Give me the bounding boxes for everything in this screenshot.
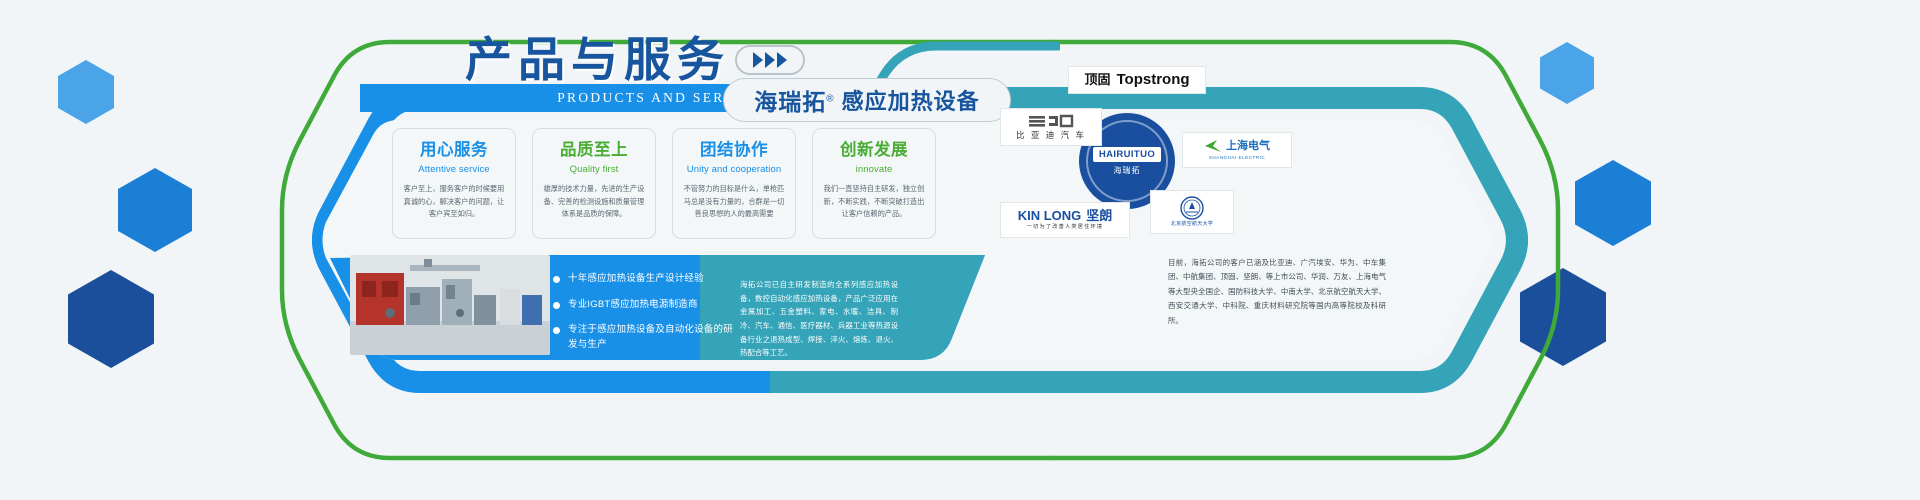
bullet-item: 专注于感应加热设备及自动化设备的研发与生产	[553, 323, 733, 352]
card-title-cn: 团结协作	[682, 141, 786, 159]
card-body: 我们一直坚持自主研发，独立创新，不断实践，不断突破打造出让客户信赖的产品。	[822, 183, 926, 220]
logo-buaa-cn: 北京航空航天大学	[1171, 222, 1213, 228]
card-body: 雄厚的技术力量，先进的生产设备、完善的检测设施和质量管理体系是品质的保障。	[542, 183, 646, 220]
buaa-crest-icon	[1180, 196, 1204, 220]
bullet-dot-icon	[553, 276, 560, 283]
card-body: 客户至上，服务客户的时候要用真诚的心，解决客户的问题，让客户宾至如归。	[402, 183, 506, 220]
bullet-item: 专业IGBT感应加热电源制造商	[553, 298, 733, 313]
value-card-2[interactable]: 品质至上 Quality first 雄厚的技术力量，先进的生产设备、完善的检测…	[532, 128, 656, 239]
logo-buaa[interactable]: 北京航空航天大学	[1150, 190, 1234, 234]
logo-topstrong[interactable]: 顶固 Topstrong	[1068, 66, 1206, 94]
card-body: 不管努力的目标是什么，单枪匹马总是没有力量的，合群是一切善良思想的人的最高需要	[682, 183, 786, 220]
card-title-en: Attentive service	[402, 164, 506, 175]
logo-topstrong-cn: 顶固	[1084, 73, 1110, 87]
card-title-cn: 品质至上	[542, 141, 646, 159]
bullet-text: 专业IGBT感应加热电源制造商	[568, 298, 698, 313]
logo-kinlong-cn: 坚朗	[1086, 209, 1112, 223]
logo-shanghai-electric-en: SHANGHAI ELECTRIC	[1209, 155, 1266, 160]
value-card-3[interactable]: 团结协作 Unity and cooperation 不管努力的目标是什么，单枪…	[672, 128, 796, 239]
byd-mark-icon	[1028, 114, 1074, 128]
value-card-4[interactable]: 创新发展 innovate 我们一直坚持自主研发，独立创新，不断实践，不断突破打…	[812, 128, 936, 239]
value-card-1[interactable]: 用心服务 Attentive service 客户至上，服务客户的时候要用真诚的…	[392, 128, 516, 239]
bullet-dot-icon	[553, 302, 560, 309]
logo-byd[interactable]: 比 亚 迪 汽 车	[1000, 108, 1102, 146]
production-equipment-photo	[350, 255, 550, 355]
hairuituo-logo-en: HAIRUITUO	[1093, 147, 1161, 162]
value-cards: 用心服务 Attentive service 客户至上，服务客户的时候要用真诚的…	[392, 128, 936, 239]
page-title: 产品与服务	[465, 36, 730, 83]
logo-kinlong-en: KIN LONG	[1018, 209, 1082, 223]
feature-bullets: 十年感应加热设备生产设计经验 专业IGBT感应加热电源制造商 专注于感应加热设备…	[553, 272, 733, 364]
card-title-cn: 用心服务	[402, 141, 506, 159]
bullet-text: 十年感应加热设备生产设计经验	[568, 272, 704, 287]
logo-shanghai-electric[interactable]: 上海电气 SHANGHAI ELECTRIC	[1182, 132, 1292, 168]
brand-name-cn: 海瑞拓®	[754, 83, 834, 117]
logo-kinlong[interactable]: KIN LONG 坚朗 一切为了改善人类居住环境	[1000, 202, 1130, 238]
registered-mark-icon: ®	[826, 93, 834, 104]
shanghai-electric-mark-icon	[1204, 139, 1222, 153]
logo-byd-cn: 比 亚 迪 汽 车	[1016, 131, 1086, 140]
card-title-cn: 创新发展	[822, 141, 926, 159]
card-title-en: Unity and cooperation	[682, 164, 786, 175]
brand-product-cn: 感应加热设备	[842, 84, 980, 116]
triple-chevron-right-icon	[735, 45, 805, 75]
bullet-text: 专注于感应加热设备及自动化设备的研发与生产	[568, 323, 733, 352]
logo-shanghai-electric-cn: 上海电气	[1226, 141, 1270, 153]
client-list-paragraph: 目前，海拓公司的客户已涵及比亚迪、广汽埃安、华为、中车集团、中航集团、顶固、坚朗…	[1168, 256, 1386, 328]
hairuituo-logo-cn: 海瑞拓	[1114, 165, 1141, 176]
logo-topstrong-en: Topstrong	[1116, 72, 1189, 88]
banner-canvas: 产品与服务 PRODUCTS AND SERVICES 海瑞拓® 感应加热设备 …	[0, 0, 1920, 500]
company-overview-paragraph: 海拓公司已自主研发制造的全系列感应加热设备，数控自动化感应加热设备，产品广泛应用…	[740, 278, 898, 360]
card-title-en: innovate	[822, 164, 926, 175]
logo-kinlong-slogan: 一切为了改善人类居住环境	[1027, 225, 1104, 231]
bullet-dot-icon	[553, 327, 560, 334]
card-title-en: Quality first	[542, 164, 646, 175]
bullet-item: 十年感应加热设备生产设计经验	[553, 272, 733, 287]
brand-badge: 海瑞拓® 感应加热设备	[723, 78, 1011, 122]
